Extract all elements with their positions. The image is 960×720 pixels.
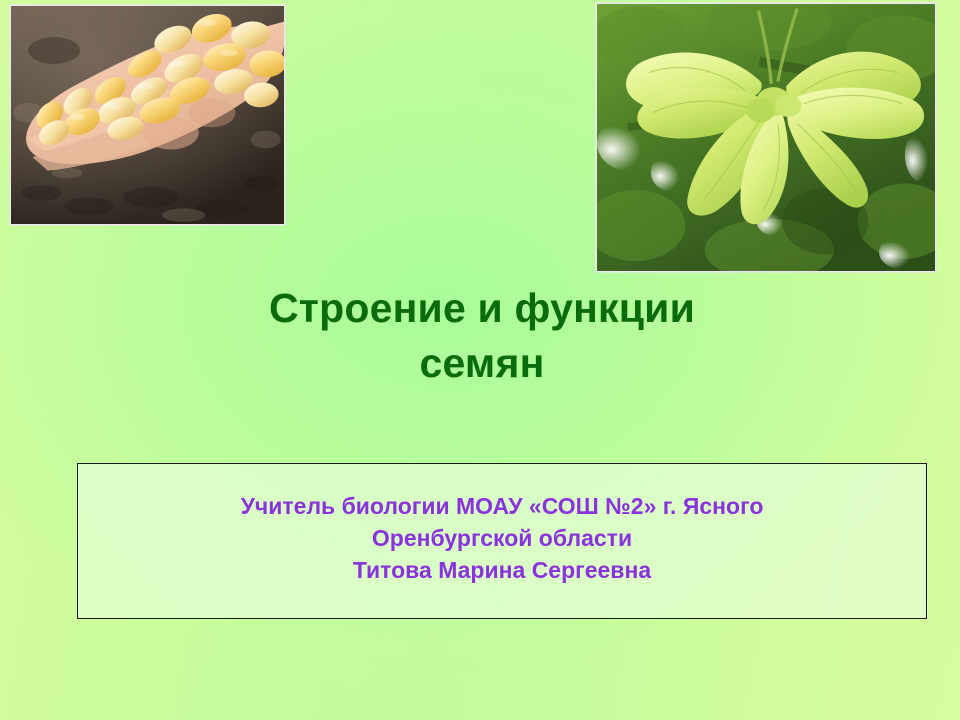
corn-seeds-in-hand-photo [11, 6, 284, 224]
maple-samara-photo [597, 4, 935, 271]
maple-samara-photo-frame [596, 3, 936, 272]
author-info-line-3: Титова Марина Сергеевна [78, 555, 926, 587]
author-info-line-1: Учитель биологии МОАУ «СОШ №2» г. Ясного [78, 491, 926, 523]
author-info-box: Учитель биологии МОАУ «СОШ №2» г. Ясного… [77, 463, 927, 619]
maple-samara-illustration [597, 4, 935, 271]
slide-title-line-2: семян [419, 340, 544, 386]
corn-seeds-in-hand-photo-frame [10, 5, 285, 225]
slide-title-line-1: Строение и функции [269, 285, 695, 331]
corn-seeds-illustration [11, 6, 284, 224]
author-info-text: Учитель биологии МОАУ «СОШ №2» г. Ясного… [78, 491, 926, 590]
author-info-line-2: Оренбургской области [78, 523, 926, 555]
slide-title: Строение и функции семян [112, 281, 852, 390]
presentation-slide: Строение и функции семян Учитель биологи… [0, 0, 960, 720]
